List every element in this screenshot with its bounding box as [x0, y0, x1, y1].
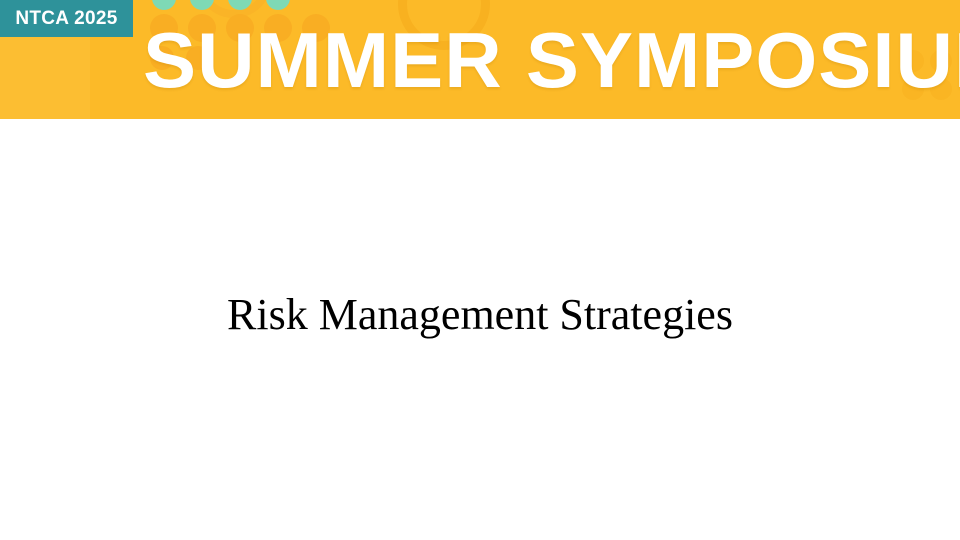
- summer-symposium-banner: NTCA 2025 SUMMER SYMPOSIUM: [0, 0, 960, 119]
- ntca-year-badge: NTCA 2025: [0, 0, 133, 37]
- slide-canvas: NTCA 2025 SUMMER SYMPOSIUM Risk Manageme…: [0, 0, 960, 540]
- ntca-badge-label: NTCA 2025: [15, 9, 117, 28]
- summer-symposium-wordmark: SUMMER SYMPOSIUM: [143, 14, 928, 106]
- slide-title: Risk Management Strategies: [60, 288, 900, 342]
